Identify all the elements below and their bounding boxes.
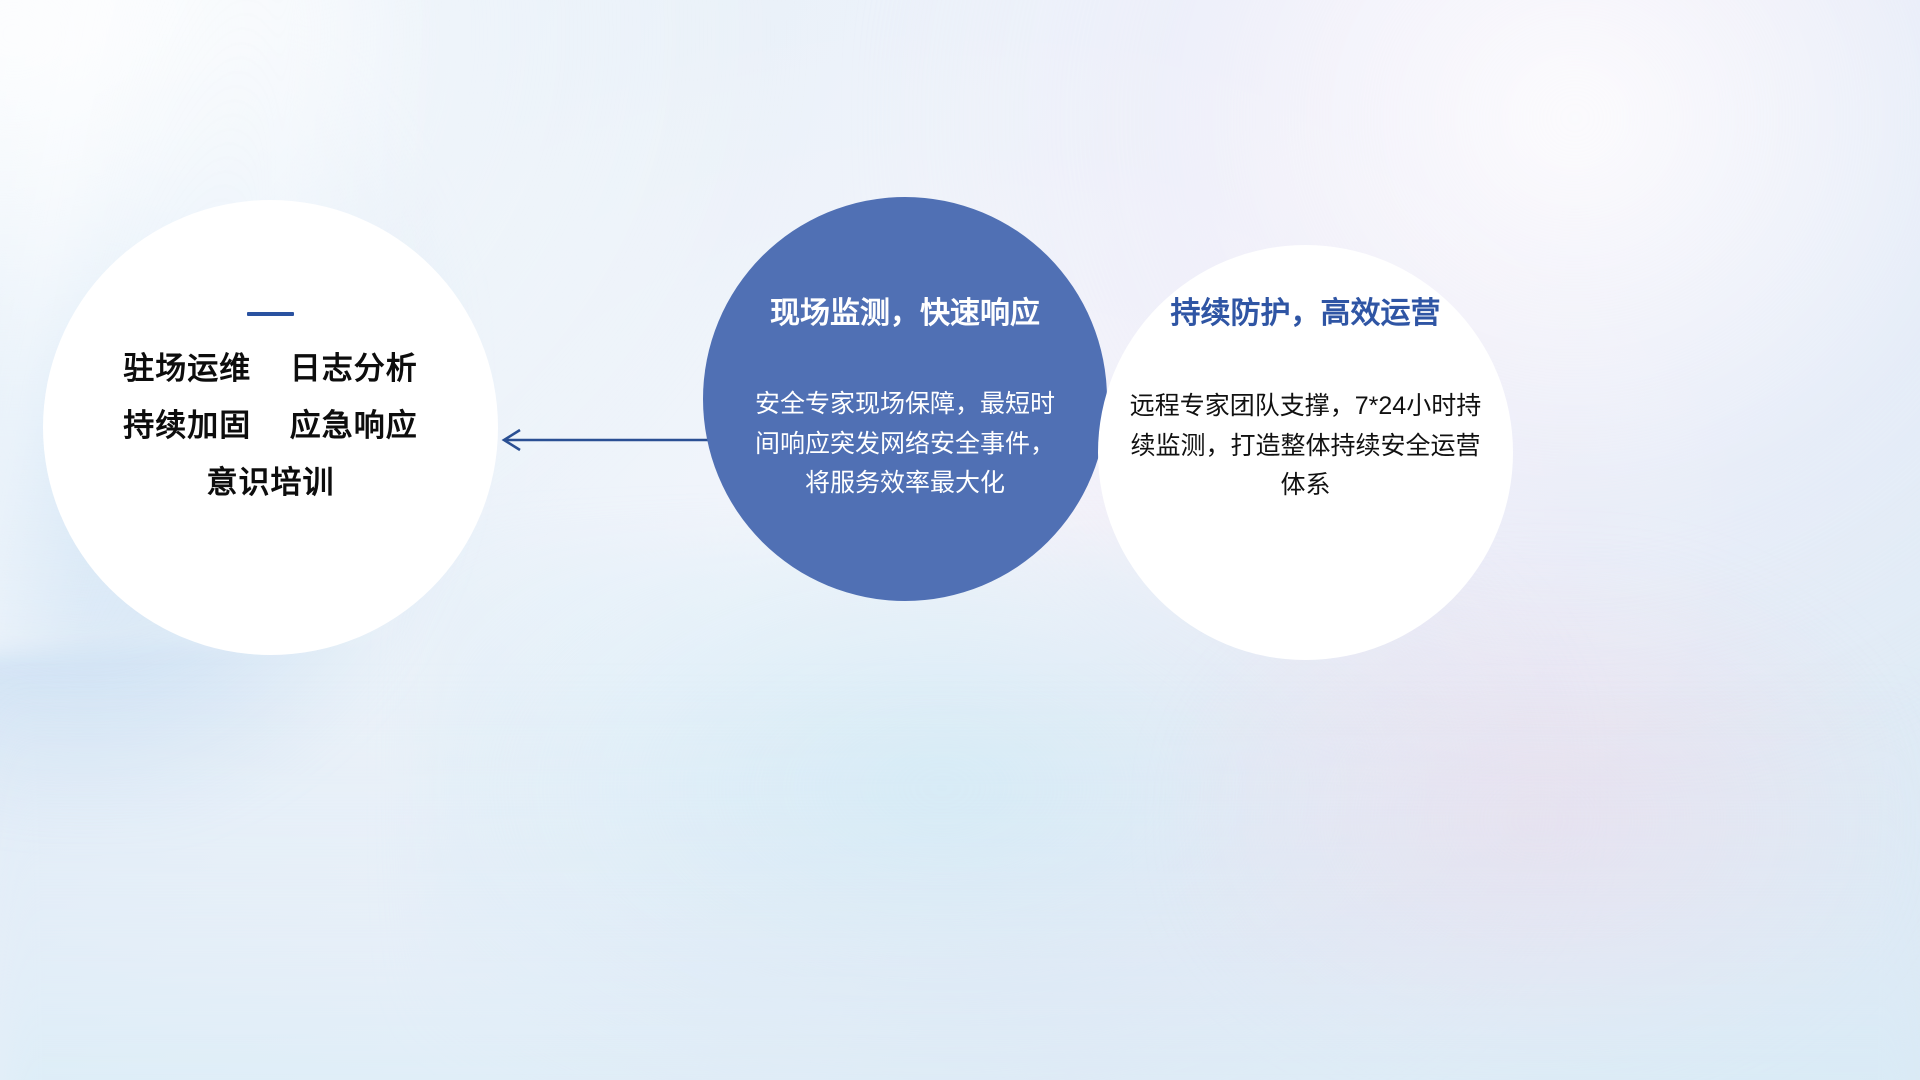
title-divider-dash (247, 312, 294, 316)
onsite-body: 安全专家现场保障，最短时间响应突发网络安全事件，将服务效率最大化 (745, 385, 1065, 504)
continuous-title: 持续防护，高效运营 (1171, 297, 1441, 330)
flow-arrow-left (490, 420, 715, 460)
service-line-1: 驻场运维 日志分析 (123, 353, 417, 384)
slide-canvas: 驻场运维 日志分析 持续加固 应急响应 意识培训 现场监测，快速响应 安全专家现… (0, 0, 1920, 1080)
onsite-title: 现场监测，快速响应 (770, 297, 1040, 330)
services-circle-content: 驻场运维 日志分析 持续加固 应急响应 意识培训 (43, 200, 498, 655)
service-line-3: 意识培训 (207, 467, 335, 498)
service-line-2: 持续加固 应急响应 (123, 410, 417, 441)
continuous-body: 远程专家团队支撑，7*24小时持续监测，打造整体持续安全运营体系 (1126, 387, 1486, 506)
continuous-circle-content: 持续防护，高效运营 远程专家团队支撑，7*24小时持续监测，打造整体持续安全运营… (1098, 245, 1513, 660)
onsite-circle-content: 现场监测，快速响应 安全专家现场保障，最短时间响应突发网络安全事件，将服务效率最… (703, 197, 1107, 601)
